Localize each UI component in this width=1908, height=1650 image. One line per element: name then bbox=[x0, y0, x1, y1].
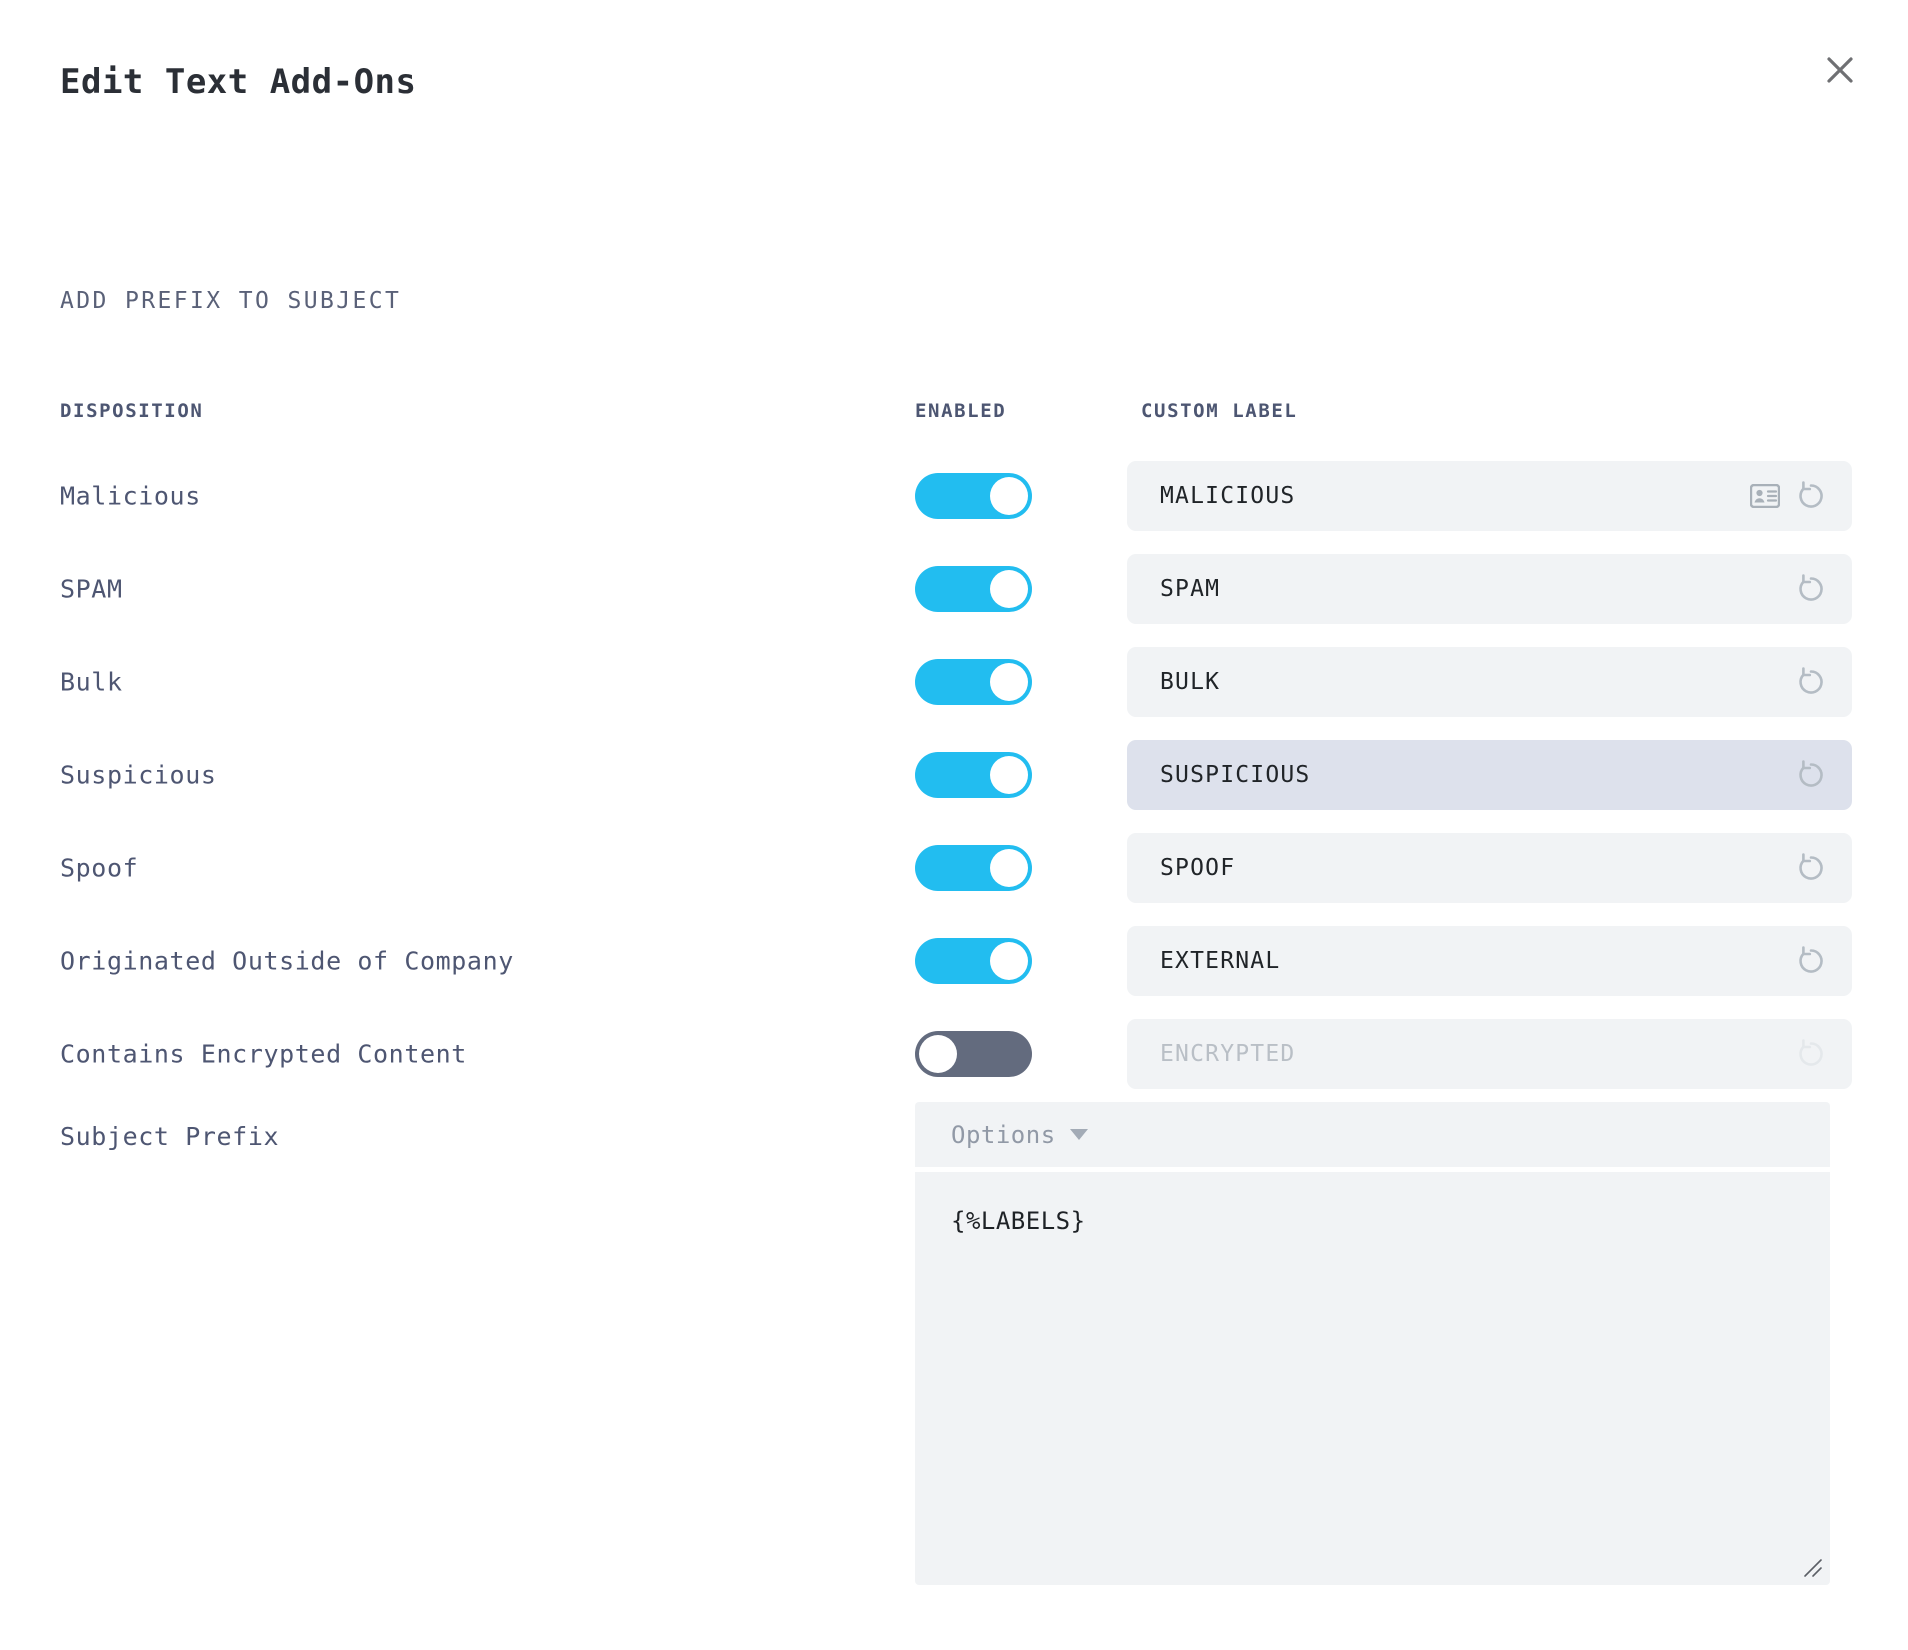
custom-label-value: SPAM bbox=[1160, 576, 1220, 602]
editor-options-dropdown[interactable]: Options bbox=[915, 1102, 1830, 1167]
disposition-label: Spoof bbox=[60, 854, 138, 883]
enabled-toggle[interactable] bbox=[915, 566, 1032, 612]
table-row: BulkBULK bbox=[0, 647, 1908, 717]
reset-icon[interactable] bbox=[1794, 665, 1828, 699]
toggle-knob bbox=[919, 1035, 957, 1073]
editor-options-label: Options bbox=[951, 1121, 1056, 1149]
subject-prefix-label: Subject Prefix bbox=[60, 1122, 279, 1151]
subject-prefix-value: {%LABELS} bbox=[951, 1207, 1086, 1235]
custom-label-input[interactable]: MALICIOUS bbox=[1127, 461, 1852, 531]
toggle-knob bbox=[990, 849, 1028, 887]
reset-icon bbox=[1794, 1037, 1828, 1071]
resize-handle-icon[interactable] bbox=[1802, 1557, 1824, 1579]
disposition-label: Suspicious bbox=[60, 761, 217, 790]
disposition-label: SPAM bbox=[60, 575, 123, 604]
custom-label-input[interactable]: SUSPICIOUS bbox=[1127, 740, 1852, 810]
toggle-knob bbox=[990, 663, 1028, 701]
enabled-toggle[interactable] bbox=[915, 473, 1032, 519]
subject-prefix-textarea[interactable]: {%LABELS} bbox=[915, 1172, 1830, 1585]
custom-label-input[interactable]: EXTERNAL bbox=[1127, 926, 1852, 996]
toggle-knob bbox=[990, 942, 1028, 980]
edit-text-addons-dialog: Edit Text Add-Ons ADD PREFIX TO SUBJECT … bbox=[0, 0, 1908, 1650]
custom-label-value: SUSPICIOUS bbox=[1160, 762, 1310, 788]
row-icon-group bbox=[1794, 665, 1828, 699]
column-header-custom-label: CUSTOM LABEL bbox=[1141, 400, 1297, 422]
row-icon-group bbox=[1750, 479, 1828, 513]
row-icon-group bbox=[1794, 944, 1828, 978]
section-title: ADD PREFIX TO SUBJECT bbox=[60, 288, 401, 314]
contact-card-icon[interactable] bbox=[1750, 484, 1780, 508]
table-row: Contains Encrypted ContentENCRYPTED bbox=[0, 1019, 1908, 1089]
custom-label-value: BULK bbox=[1160, 669, 1220, 695]
chevron-down-icon bbox=[1070, 1129, 1088, 1140]
row-icon-group bbox=[1794, 1037, 1828, 1071]
enabled-toggle[interactable] bbox=[915, 1031, 1032, 1077]
disposition-label: Originated Outside of Company bbox=[60, 947, 514, 976]
custom-label-value: SPOOF bbox=[1160, 855, 1235, 881]
reset-icon[interactable] bbox=[1794, 851, 1828, 885]
custom-label-value: EXTERNAL bbox=[1160, 948, 1280, 974]
close-button[interactable] bbox=[1812, 42, 1868, 98]
close-icon bbox=[1823, 53, 1857, 87]
toggle-knob bbox=[990, 477, 1028, 515]
table-row: MaliciousMALICIOUS bbox=[0, 461, 1908, 531]
custom-label-value: ENCRYPTED bbox=[1160, 1041, 1295, 1067]
custom-label-input[interactable]: BULK bbox=[1127, 647, 1852, 717]
row-icon-group bbox=[1794, 758, 1828, 792]
toggle-knob bbox=[990, 756, 1028, 794]
column-header-disposition: DISPOSITION bbox=[60, 400, 203, 422]
enabled-toggle[interactable] bbox=[915, 938, 1032, 984]
reset-icon[interactable] bbox=[1794, 572, 1828, 606]
custom-label-value: MALICIOUS bbox=[1160, 483, 1295, 509]
page-title: Edit Text Add-Ons bbox=[60, 62, 417, 102]
enabled-toggle[interactable] bbox=[915, 845, 1032, 891]
custom-label-input[interactable]: SPAM bbox=[1127, 554, 1852, 624]
disposition-label: Contains Encrypted Content bbox=[60, 1040, 467, 1069]
reset-icon[interactable] bbox=[1794, 479, 1828, 513]
toggle-knob bbox=[990, 570, 1028, 608]
table-row: SPAMSPAM bbox=[0, 554, 1908, 624]
custom-label-input[interactable]: SPOOF bbox=[1127, 833, 1852, 903]
custom-label-input: ENCRYPTED bbox=[1127, 1019, 1852, 1089]
column-header-enabled: ENABLED bbox=[915, 400, 1006, 422]
enabled-toggle[interactable] bbox=[915, 752, 1032, 798]
reset-icon[interactable] bbox=[1794, 944, 1828, 978]
row-icon-group bbox=[1794, 851, 1828, 885]
row-icon-group bbox=[1794, 572, 1828, 606]
reset-icon[interactable] bbox=[1794, 758, 1828, 792]
disposition-label: Bulk bbox=[60, 668, 123, 697]
table-row: SuspiciousSUSPICIOUS bbox=[0, 740, 1908, 810]
table-row: SpoofSPOOF bbox=[0, 833, 1908, 903]
enabled-toggle[interactable] bbox=[915, 659, 1032, 705]
table-row: Originated Outside of CompanyEXTERNAL bbox=[0, 926, 1908, 996]
disposition-label: Malicious bbox=[60, 482, 201, 511]
